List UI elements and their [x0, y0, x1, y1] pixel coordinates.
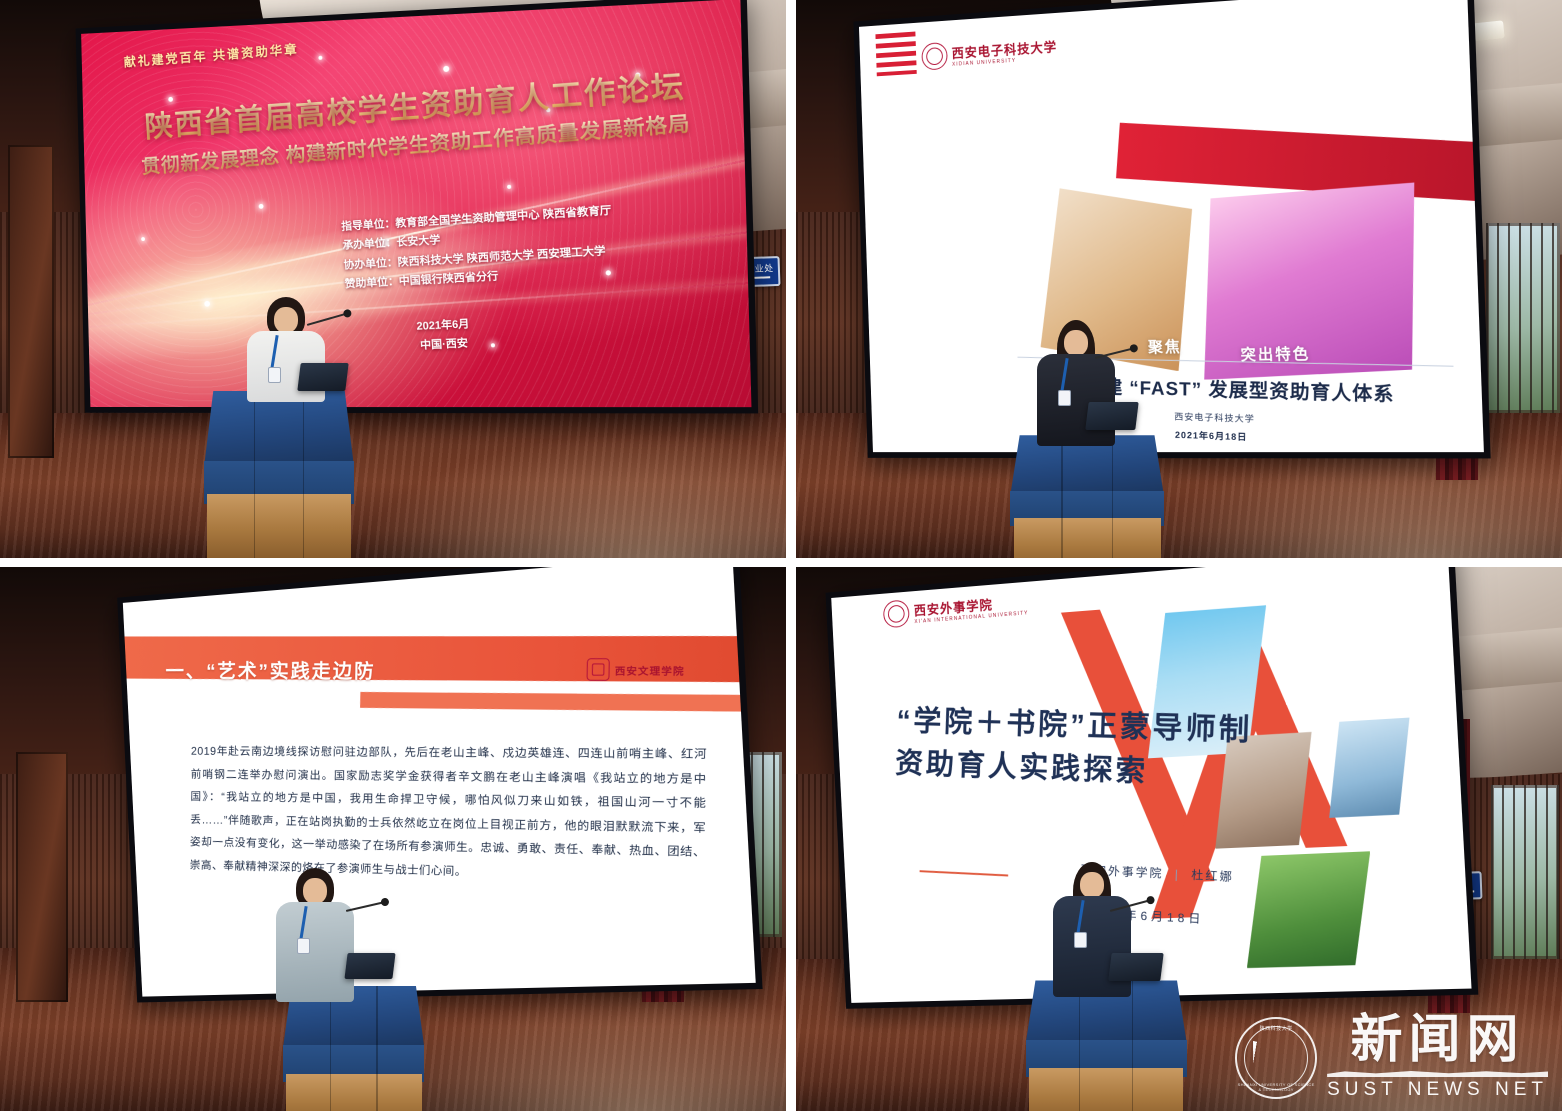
- campus-photo-garden: [1241, 851, 1376, 968]
- speaker-person: [275, 872, 355, 1003]
- side-door: [16, 752, 68, 1002]
- overlay-text-left: 聚焦: [1148, 335, 1182, 357]
- university-logo: 西安电子科技大学 XIDIAN UNIVERSITY: [921, 35, 1058, 71]
- slide-title: “学院＋书院”正蒙导师制 资助育人实践探索: [895, 700, 1254, 797]
- slide-body-text: 2019年赴云南边境线探访慰问驻边部队，先后在老山主峰、戍边英雄连、四连山前哨主…: [189, 742, 706, 891]
- organizer-list: 指导单位：教育部全国学生资助管理中心 陕西省教育厅 承办单位：长安大学 协办单位…: [341, 202, 616, 295]
- led-screen: 西安外事学院 XI'AN INTERNATIONAL UNIVERSITY: [825, 567, 1478, 1009]
- laptop: [299, 363, 347, 391]
- slide-content-top-left: 献礼建党百年 共谱资助华章 陕西省首届高校学生资助育人工作论坛 贯彻新发展理念 …: [81, 0, 751, 407]
- slide-kicker: 献礼建党百年 共谱资助华章: [124, 39, 300, 71]
- seal-icon: [921, 42, 948, 71]
- side-door: [8, 145, 54, 457]
- led-screen: 西安电子科技大学 XIDIAN UNIVERSITY 聚焦 突出特色 索构建 “…: [853, 0, 1490, 458]
- podium: [1010, 435, 1163, 558]
- photo-panel-bottom-right[interactable]: 就业处 西安外事学院 XI'AN INTERNATIONAL UNIVERSIT…: [796, 567, 1562, 1111]
- flag-stripes-decoration: [876, 31, 917, 76]
- red-band-decoration: [1116, 122, 1484, 202]
- byline-separator: |: [1174, 867, 1180, 881]
- university-logo: 西安外事学院 XI'AN INTERNATIONAL UNIVERSITY: [883, 590, 1029, 629]
- slide-date: 2021年6月18日: [1175, 428, 1247, 443]
- slide-content-top-right: 西安电子科技大学 XIDIAN UNIVERSITY 聚焦 突出特色 索构建 “…: [859, 0, 1484, 452]
- photo-panel-top-left[interactable]: 招生就业处: [0, 0, 786, 558]
- photo-collage: 招生就业处: [0, 0, 1562, 1111]
- side-window: [1486, 223, 1560, 413]
- led-screen: 献礼建党百年 共谱资助华章 陕西省首届高校学生资助育人工作论坛 贯彻新发展理念 …: [75, 0, 758, 413]
- event-place: 中国·西安: [417, 334, 471, 355]
- laptop: [1087, 402, 1137, 430]
- seal-icon: [587, 658, 610, 681]
- seal-icon: [883, 600, 910, 629]
- photo-panel-top-right[interactable]: 就业处 西安电子科技大学 XIDIAN UNIVERSITY: [796, 0, 1562, 558]
- slide-heading: 一、“艺术”实践走边防: [166, 656, 376, 685]
- heading-band-secondary: [360, 692, 756, 712]
- podium: [204, 391, 353, 558]
- accent-rule: [920, 870, 1008, 876]
- laptop: [1110, 953, 1162, 981]
- slide-footer: 2021年6月 中国·西安: [416, 316, 471, 356]
- slide-org: 西安电子科技大学: [1175, 410, 1256, 426]
- event-date: 2021年6月: [416, 316, 470, 337]
- podium: [283, 986, 424, 1111]
- podium: [1026, 980, 1187, 1111]
- slide-content-bottom-right: 西安外事学院 XI'AN INTERNATIONAL UNIVERSITY: [831, 567, 1471, 1003]
- university-logo: 西安文理学院: [587, 658, 685, 681]
- photo-panel-bottom-left[interactable]: 招生就业处 一、“艺术”实践走边防 西安文理学院 2019年赴云南边境线探访慰问…: [0, 567, 786, 1111]
- led-screen: 一、“艺术”实践走边防 西安文理学院 2019年赴云南边境线探访慰问驻边部队，先…: [117, 567, 762, 1003]
- laptop: [346, 953, 394, 979]
- side-window: [1491, 785, 1559, 959]
- byline-presenter: 杜红娜: [1191, 868, 1234, 884]
- floor-reflection: [314, 413, 786, 558]
- slide-content-bottom-left: 一、“艺术”实践走边防 西安文理学院 2019年赴云南边境线探访慰问驻边部队，先…: [123, 567, 756, 997]
